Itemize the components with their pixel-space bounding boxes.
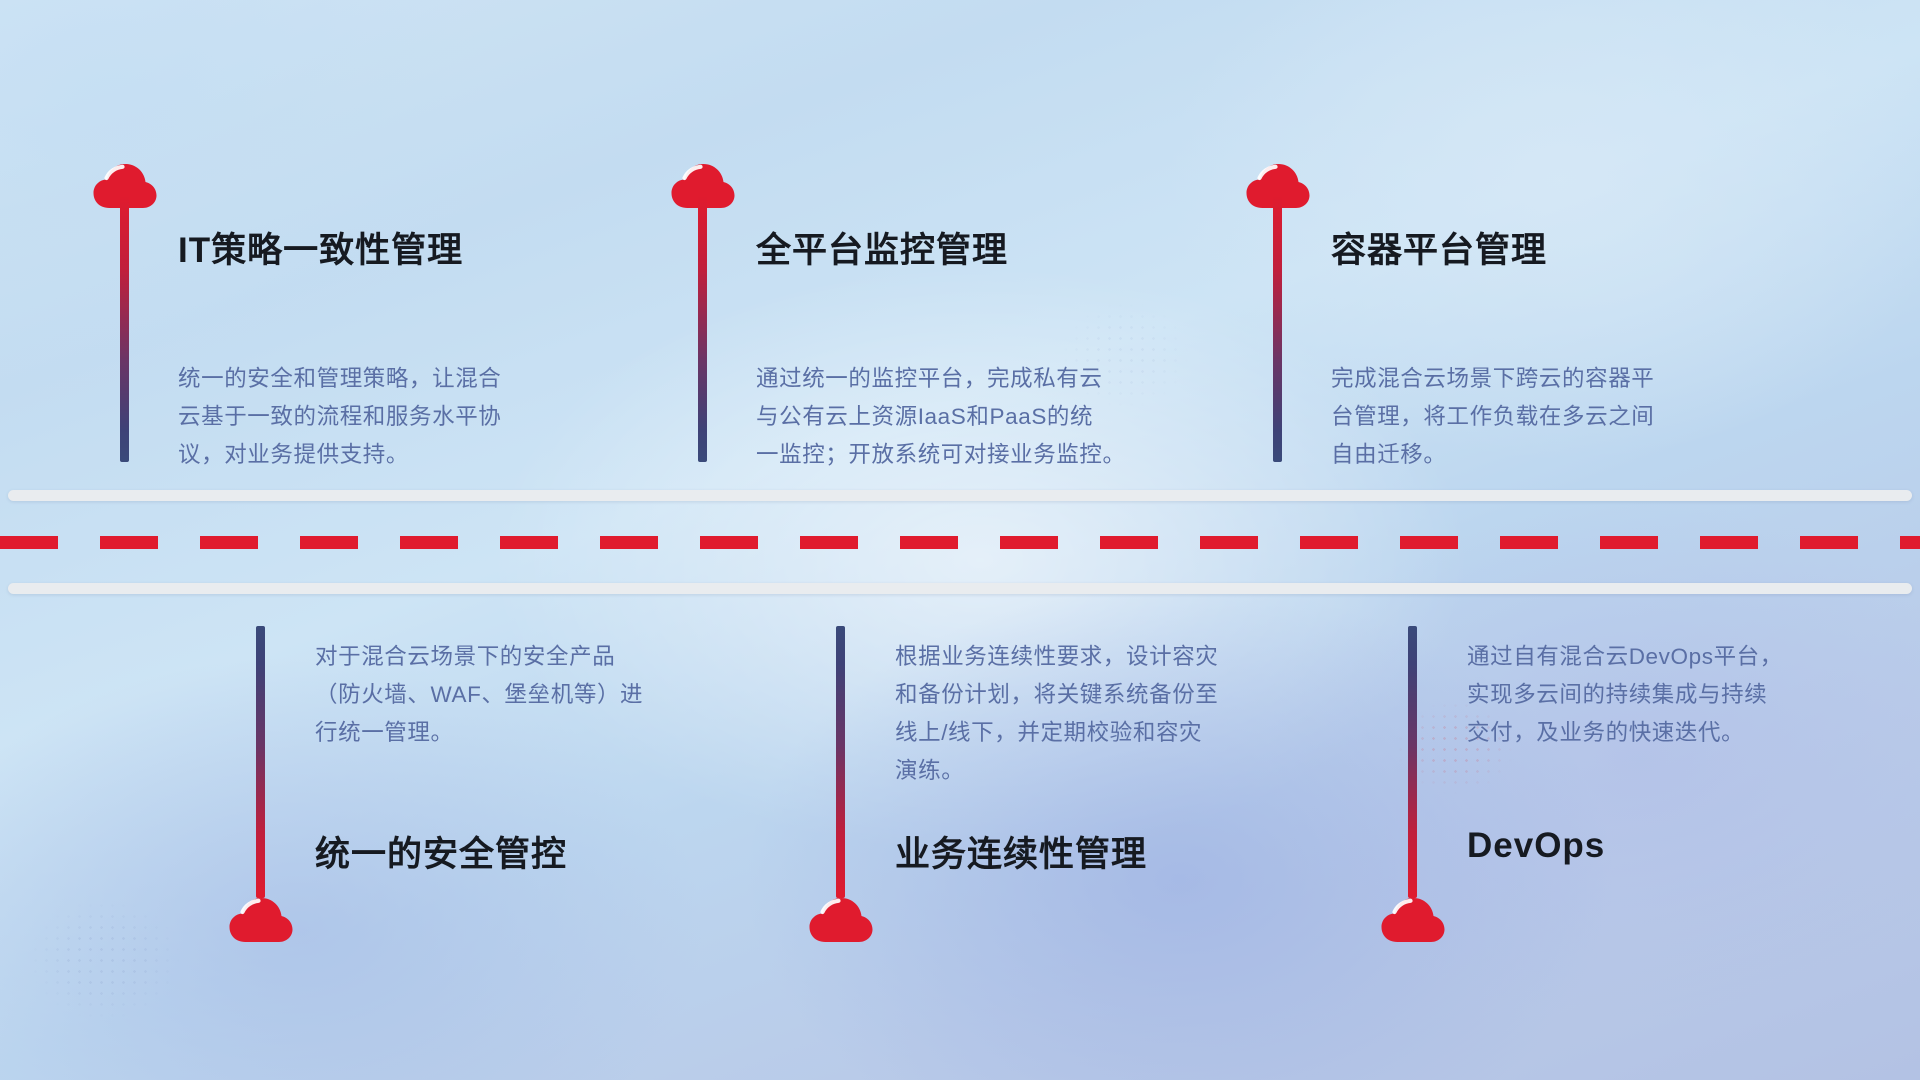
- card-body: 统一的安全和管理策略，让混合 云基于一致的流程和服务水平协 议，对业务提供支持。: [178, 360, 608, 474]
- infographic-canvas: IT策略一致性管理 统一的安全和管理策略，让混合 云基于一致的流程和服务水平协 …: [0, 0, 1920, 1080]
- card-body: 通过统一的监控平台，完成私有云 与公有云上资源IaaS和PaaS的统 一监控；开…: [756, 360, 1226, 474]
- dot-texture-left: [30, 900, 180, 1020]
- road-rail-top: [8, 490, 1912, 501]
- card-title: 全平台监控管理: [756, 222, 1008, 273]
- card-body: 通过自有混合云DevOps平台， 实现多云间的持续集成与持续 交付，及业务的快速…: [1467, 638, 1887, 752]
- road-center-dashes: [0, 536, 1920, 549]
- card-title: DevOps: [1467, 826, 1605, 866]
- timeline-bar: [1273, 196, 1282, 462]
- timeline-bar: [836, 626, 845, 898]
- timeline-bar: [256, 626, 265, 898]
- card-title: IT策略一致性管理: [178, 222, 463, 273]
- card-title: 统一的安全管控: [315, 826, 567, 877]
- road-divider: [0, 490, 1920, 600]
- timeline-bar: [1408, 626, 1417, 898]
- card-title: 业务连续性管理: [895, 826, 1147, 877]
- road-rail-bottom: [8, 583, 1912, 594]
- timeline-bar: [698, 196, 707, 462]
- card-body: 完成混合云场景下跨云的容器平 台管理，将工作负载在多云之间 自由迁移。: [1331, 360, 1771, 474]
- card-body: 对于混合云场景下的安全产品 （防火墙、WAF、堡垒机等）进 行统一管理。: [315, 638, 745, 752]
- timeline-bar: [120, 196, 129, 462]
- card-body: 根据业务连续性要求，设计容灾 和备份计划，将关键系统备份至 线上/线下，并定期校…: [895, 638, 1335, 790]
- cloud-pin-icon: [1380, 894, 1446, 944]
- cloud-pin-icon: [228, 894, 294, 944]
- cloud-pin-icon: [808, 894, 874, 944]
- card-title: 容器平台管理: [1331, 222, 1547, 273]
